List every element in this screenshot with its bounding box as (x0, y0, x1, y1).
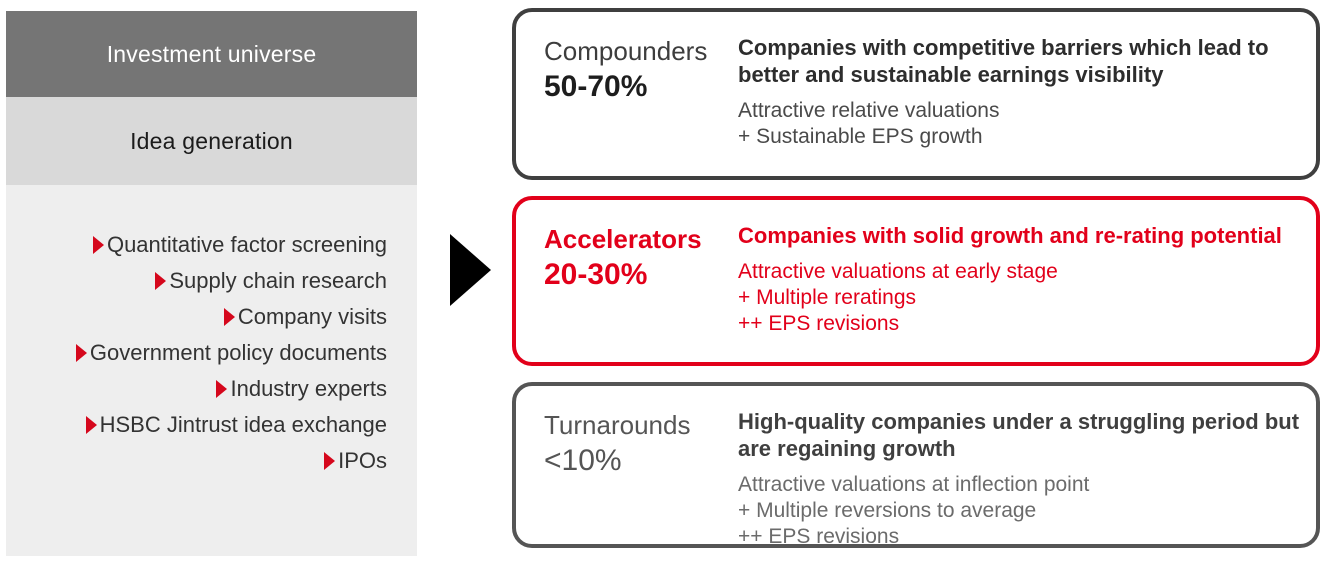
allocation-percentage: 20-30% (544, 256, 738, 294)
card-headline: High-quality companies under a strugglin… (738, 408, 1300, 462)
list-item-label: Supply chain research (169, 268, 387, 294)
category-card-accelerators[interactable]: Accelerators 20-30% Companies with solid… (512, 196, 1320, 366)
card-detail-line: + Multiple reratings (738, 285, 1300, 311)
allocation-percentage: <10% (544, 442, 738, 480)
card-detail-line: ++ EPS revisions (738, 524, 1300, 550)
investment-universe-header: Investment universe (6, 11, 417, 97)
idea-generation-header: Idea generation (6, 97, 417, 185)
card-detail-line: + Multiple reversions to average (738, 498, 1300, 524)
triangle-bullet-icon (93, 236, 104, 254)
investment-universe-panel: Investment universe Idea generation Quan… (6, 11, 417, 556)
card-detail-line: ++ EPS revisions (738, 311, 1300, 337)
investment-universe-title: Investment universe (107, 41, 317, 68)
triangle-bullet-icon (155, 272, 166, 290)
list-item-label: IPOs (338, 448, 387, 474)
allocation-percentage: 50-70% (544, 68, 738, 106)
category-name: Compounders (544, 34, 738, 68)
category-card-turnarounds[interactable]: Turnarounds <10% High-quality companies … (512, 382, 1320, 548)
card-detail-line: Attractive valuations at early stage (738, 259, 1300, 285)
triangle-bullet-icon (216, 380, 227, 398)
card-label-column: Accelerators 20-30% (516, 200, 738, 294)
category-card-compounders[interactable]: Compounders 50-70% Companies with compet… (512, 8, 1320, 180)
card-body-column: Companies with competitive barriers whic… (738, 12, 1316, 150)
list-item[interactable]: Industry experts (6, 371, 417, 407)
card-detail-line: + Sustainable EPS growth (738, 124, 1300, 150)
list-item[interactable]: Supply chain research (6, 263, 417, 299)
list-item-label: Industry experts (230, 376, 387, 402)
card-detail-line: Attractive valuations at inflection poin… (738, 472, 1300, 498)
list-item[interactable]: Company visits (6, 299, 417, 335)
card-body-column: Companies with solid growth and re-ratin… (738, 200, 1316, 337)
list-item-label: Quantitative factor screening (107, 232, 387, 258)
card-headline: Companies with solid growth and re-ratin… (738, 222, 1300, 249)
triangle-bullet-icon (324, 452, 335, 470)
idea-generation-title: Idea generation (130, 128, 293, 155)
card-label-column: Compounders 50-70% (516, 12, 738, 106)
category-name: Turnarounds (544, 408, 738, 442)
triangle-bullet-icon (86, 416, 97, 434)
card-label-column: Turnarounds <10% (516, 386, 738, 480)
list-item[interactable]: IPOs (6, 443, 417, 479)
card-headline: Companies with competitive barriers whic… (738, 34, 1300, 88)
list-item-label: Government policy documents (90, 340, 387, 366)
list-item-label: HSBC Jintrust idea exchange (100, 412, 387, 438)
triangle-bullet-icon (76, 344, 87, 362)
list-item[interactable]: Government policy documents (6, 335, 417, 371)
list-item-label: Company visits (238, 304, 387, 330)
card-detail-line: Attractive relative valuations (738, 98, 1300, 124)
card-body-column: High-quality companies under a strugglin… (738, 386, 1316, 550)
triangle-bullet-icon (224, 308, 235, 326)
list-item[interactable]: Quantitative factor screening (6, 227, 417, 263)
list-item[interactable]: HSBC Jintrust idea exchange (6, 407, 417, 443)
triangle-right-icon (450, 234, 491, 306)
idea-generation-list: Quantitative factor screening Supply cha… (6, 185, 417, 556)
category-name: Accelerators (544, 222, 738, 256)
